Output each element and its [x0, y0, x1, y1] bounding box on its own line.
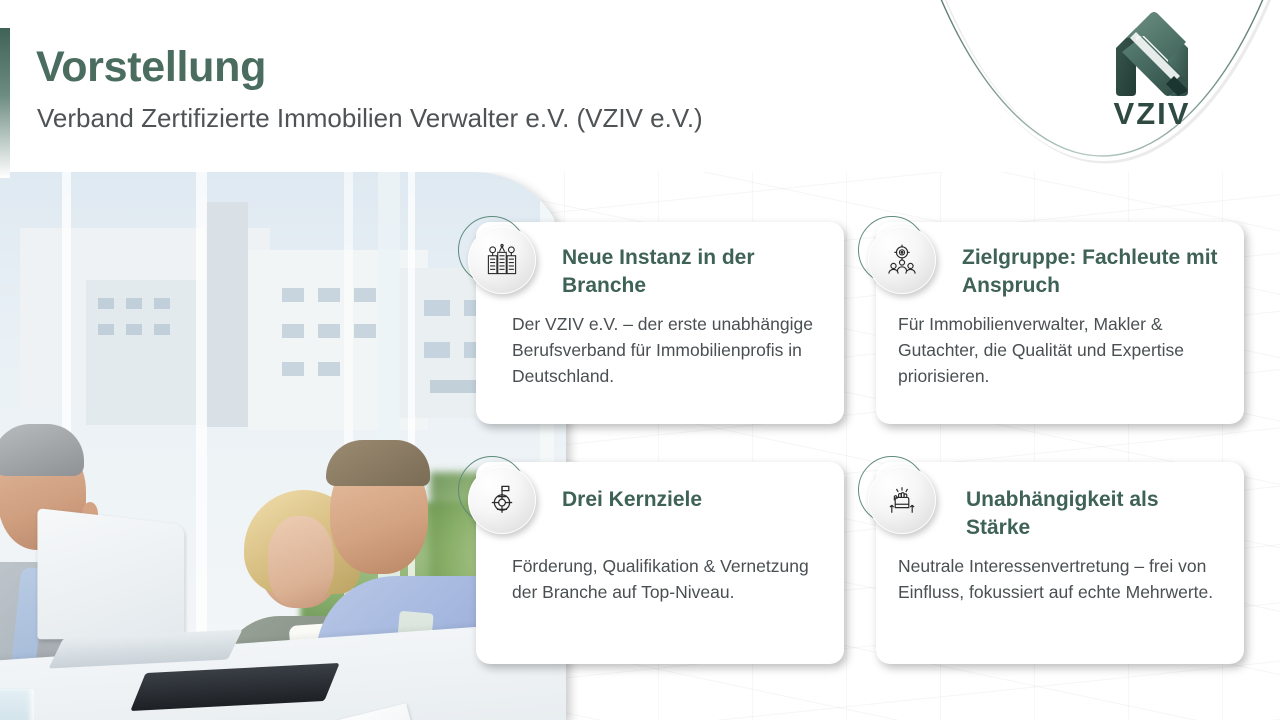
card-title: Zielgruppe: Fachleute mit Anspruch: [962, 244, 1224, 300]
photo-building-b: [206, 202, 248, 427]
card-body: Für Immobilienverwalter, Makler & Gutach…: [898, 312, 1218, 390]
photo-window-pane: [318, 324, 340, 338]
vziv-house-monogram-icon: [1102, 8, 1202, 100]
card-icon-badge-zielgruppe[interactable]: [868, 226, 936, 294]
photo-window-pane: [282, 324, 304, 338]
photo-person-hair: [326, 440, 430, 486]
photo-window-pane: [354, 288, 376, 302]
photo-window-pane: [282, 362, 304, 376]
photo-window-pane: [318, 362, 340, 376]
photo-window-pane: [98, 298, 114, 309]
card-body: Der VZIV e.V. – der erste unabhängige Be…: [512, 312, 824, 390]
photo-window-pane: [126, 324, 142, 335]
slide-root: Vorstellung Verband Zertifizierte Immobi…: [0, 0, 1280, 720]
photo-window-pane: [154, 324, 170, 335]
goal-target-flag-icon: [485, 483, 519, 517]
card-icon-badge-neue-instanz[interactable]: [468, 226, 536, 294]
photo-mullion: [408, 172, 415, 642]
page-title: Vorstellung: [36, 45, 266, 90]
photo-water-glass: [0, 688, 34, 720]
header-accent-bar: [0, 28, 10, 178]
logo-wordmark: VZIV: [1114, 98, 1191, 129]
photo-mullion: [196, 172, 207, 642]
photo-window-pane: [154, 298, 170, 309]
photo-window-pane: [318, 288, 340, 302]
photo-window-pane: [126, 298, 142, 309]
vziv-logo: VZIV: [1092, 8, 1212, 138]
card-body: Neutrale Interessenvertretung – frei von…: [898, 554, 1228, 606]
badge-disc: [468, 466, 536, 534]
badge-disc: [868, 466, 936, 534]
photo-person-face: [268, 516, 334, 608]
card-icon-badge-drei-kernziele[interactable]: [468, 466, 536, 534]
card-title: Drei Kernziele: [562, 486, 812, 514]
target-audience-icon: [885, 243, 919, 277]
badge-disc: [868, 226, 936, 294]
page-subtitle: Verband Zertifizierte Immobilien Verwalt…: [37, 104, 703, 134]
city-buildings-icon: [485, 243, 519, 277]
photo-laptop-screen: [37, 508, 184, 639]
photo-window-pane: [354, 324, 376, 338]
card-icon-badge-unabhaengigkeit[interactable]: [868, 466, 936, 534]
photo-window-pane: [424, 342, 450, 358]
card-body: Förderung, Qualifikation & Vernetzung de…: [512, 554, 828, 606]
raised-fist-strength-icon: [885, 483, 919, 517]
card-title: Neue Instanz in der Branche: [562, 244, 812, 300]
photo-window-pane: [98, 324, 114, 335]
badge-disc: [468, 226, 536, 294]
photo-window-pane: [424, 300, 450, 316]
card-title: Unabhängigkeit als Stärke: [966, 486, 1222, 542]
photo-window-pane: [282, 288, 304, 302]
